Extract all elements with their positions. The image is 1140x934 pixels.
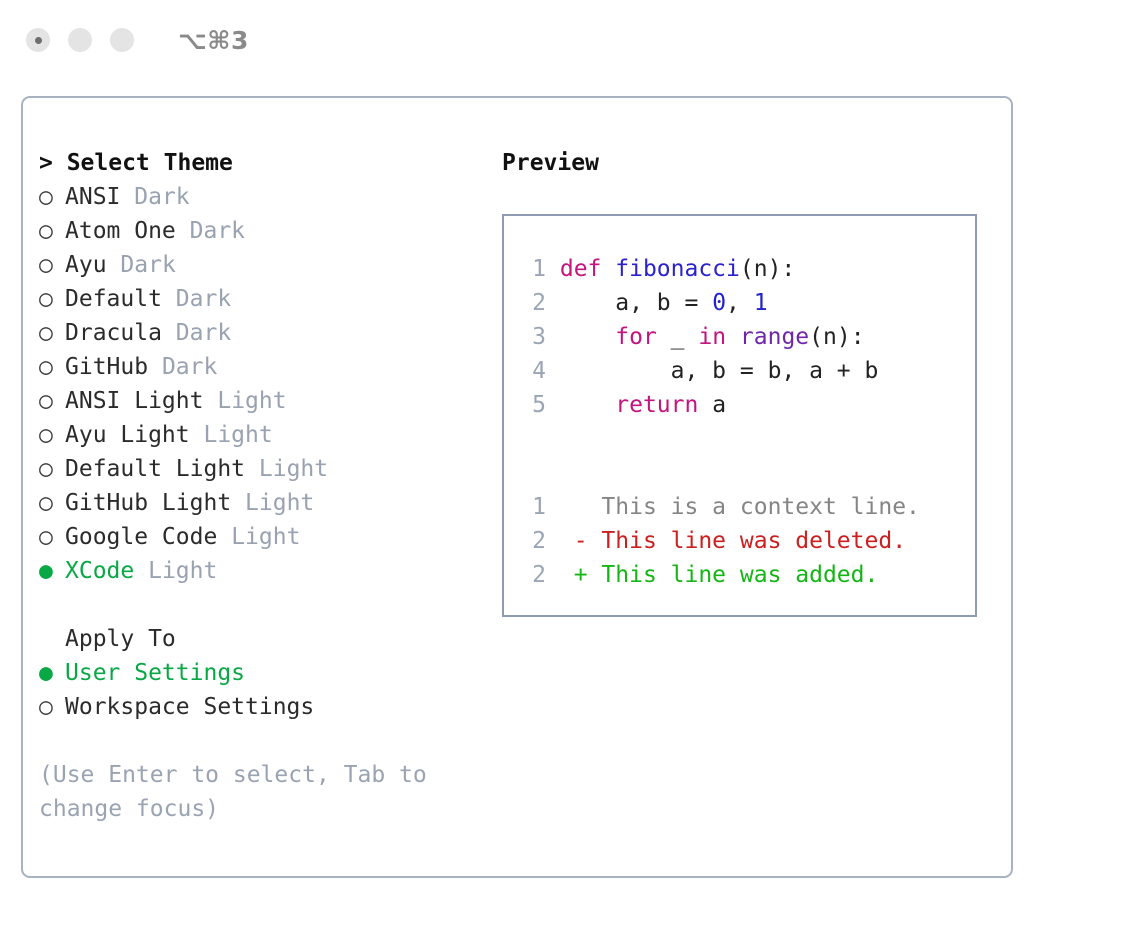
preview-heading: Preview: [502, 146, 1002, 180]
apply-to-list: ●User Settings○Workspace Settings: [39, 656, 489, 724]
theme-option-github-light[interactable]: ○GitHub Light Light: [39, 486, 489, 520]
code-token-pn: (n):: [740, 256, 795, 282]
code-blank-line-2: [518, 456, 975, 490]
theme-option-tag: Dark: [134, 184, 189, 210]
diff-sign: +: [574, 562, 588, 588]
window-dot-active-inner: [35, 37, 42, 44]
code-token-kw: def: [560, 256, 615, 282]
code-blank-line: [518, 422, 975, 456]
theme-option-label: Atom One: [65, 218, 176, 244]
theme-option-label: GitHub: [65, 354, 148, 380]
theme-option-atom-one[interactable]: ○Atom One Dark: [39, 214, 489, 248]
theme-option-tag: Dark: [176, 320, 231, 346]
code-token-kw: in: [698, 324, 726, 350]
code-token-pn: a, b = b, a + b: [560, 358, 879, 384]
diff-line-text: This line was added.: [588, 562, 879, 588]
preview-code-box: 1 def fibonacci(n):2 a, b = 0, 13 for _ …: [502, 214, 977, 617]
diff-line-text: This line was deleted.: [588, 528, 907, 554]
title-bar: ⌥⌘3: [0, 0, 1140, 80]
theme-option-tag: Dark: [120, 252, 175, 278]
code-token-pn: _: [657, 324, 699, 350]
theme-option-label: Google Code: [65, 524, 217, 550]
theme-option-tag: Light: [217, 388, 286, 414]
code-line: 2 a, b = 0, 1: [518, 286, 975, 320]
theme-option-tag: Light: [148, 558, 217, 584]
code-token-num: 0: [712, 290, 726, 316]
select-theme-heading: > Select Theme: [39, 146, 489, 180]
diff-line-ctx: 1 This is a context line.: [518, 490, 975, 524]
theme-list: ○ANSI Dark○Atom One Dark○Ayu Dark○Defaul…: [39, 180, 489, 588]
theme-option-default-light[interactable]: ○Default Light Light: [39, 452, 489, 486]
radio-unselected-icon: ○: [39, 690, 65, 724]
radio-selected-icon: ●: [39, 656, 65, 690]
code-line: 4 a, b = b, a + b: [518, 354, 975, 388]
theme-option-ansi-light[interactable]: ○ANSI Light Light: [39, 384, 489, 418]
code-token-kw: return: [615, 392, 698, 418]
theme-option-ayu[interactable]: ○Ayu Dark: [39, 248, 489, 282]
diff-line-number: 2: [518, 524, 546, 558]
theme-option-label: Default: [65, 286, 162, 312]
theme-picker-column: > Select Theme ○ANSI Dark○Atom One Dark○…: [39, 146, 489, 826]
theme-option-label: ANSI Light: [65, 388, 203, 414]
diff-line-text: This is a context line.: [588, 494, 920, 520]
radio-unselected-icon: ○: [39, 282, 65, 316]
apply-to-heading: Apply To: [39, 622, 489, 656]
apply-to-option-workspace-settings[interactable]: ○Workspace Settings: [39, 690, 489, 724]
radio-unselected-icon: ○: [39, 418, 65, 452]
window-controls: [26, 28, 134, 52]
theme-option-tag: Light: [231, 524, 300, 550]
code-sample: 1 def fibonacci(n):2 a, b = 0, 13 for _ …: [518, 252, 975, 422]
code-token-num: 1: [754, 290, 768, 316]
diff-sign: -: [574, 528, 588, 554]
code-line: 1 def fibonacci(n):: [518, 252, 975, 286]
spacer-2: [39, 724, 489, 758]
radio-selected-icon: ●: [39, 554, 65, 588]
preview-column: Preview 1 def fibonacci(n):2 a, b = 0, 1…: [502, 146, 1002, 617]
diff-line-number: 2: [518, 558, 546, 592]
code-token-pn: [560, 324, 615, 350]
diff-line-number: 1: [518, 490, 546, 524]
radio-unselected-icon: ○: [39, 520, 65, 554]
window-dot-active[interactable]: [26, 28, 50, 52]
code-line-number: 5: [518, 388, 546, 422]
theme-option-label: Default Light: [65, 456, 245, 482]
radio-unselected-icon: ○: [39, 316, 65, 350]
code-token-pn: [726, 324, 740, 350]
window-dot-second[interactable]: [68, 28, 92, 52]
code-line: 3 for _ in range(n):: [518, 320, 975, 354]
theme-option-ayu-light[interactable]: ○Ayu Light Light: [39, 418, 489, 452]
theme-option-ansi[interactable]: ○ANSI Dark: [39, 180, 489, 214]
radio-unselected-icon: ○: [39, 350, 65, 384]
theme-option-xcode[interactable]: ●XCode Light: [39, 554, 489, 588]
keyboard-hint-text: (Use Enter to select, Tab to change focu…: [39, 758, 459, 826]
theme-option-google-code[interactable]: ○Google Code Light: [39, 520, 489, 554]
theme-option-label: Dracula: [65, 320, 162, 346]
code-token-kw: for: [615, 324, 657, 350]
radio-unselected-icon: ○: [39, 248, 65, 282]
theme-option-label: ANSI: [65, 184, 120, 210]
keyboard-shortcut-label: ⌥⌘3: [178, 26, 249, 55]
theme-option-tag: Dark: [190, 218, 245, 244]
diff-sample: 1 This is a context line.2 - This line w…: [518, 490, 975, 592]
app-root: ⌥⌘3 > Select Theme ○ANSI Dark○Atom One D…: [0, 0, 1140, 934]
theme-option-dracula[interactable]: ○Dracula Dark: [39, 316, 489, 350]
radio-unselected-icon: ○: [39, 486, 65, 520]
apply-to-option-user-settings[interactable]: ●User Settings: [39, 656, 489, 690]
diff-line-del: 2 - This line was deleted.: [518, 524, 975, 558]
theme-option-label: Ayu: [65, 252, 107, 278]
code-token-fn: fibonacci: [615, 256, 740, 282]
code-line-number: 4: [518, 354, 546, 388]
code-token-pn: [560, 392, 615, 418]
code-line-number: 1: [518, 252, 546, 286]
code-token-pn: a, b =: [560, 290, 712, 316]
window-dot-third[interactable]: [110, 28, 134, 52]
theme-option-tag: Dark: [176, 286, 231, 312]
diff-sign: [574, 494, 588, 520]
code-token-pn: a: [698, 392, 726, 418]
main-panel: > Select Theme ○ANSI Dark○Atom One Dark○…: [21, 96, 1013, 878]
theme-option-label: GitHub Light: [65, 490, 231, 516]
theme-option-tag: Light: [245, 490, 314, 516]
radio-unselected-icon: ○: [39, 384, 65, 418]
code-line: 5 return a: [518, 388, 975, 422]
theme-option-label: XCode: [65, 558, 134, 584]
theme-option-github[interactable]: ○GitHub Dark: [39, 350, 489, 384]
code-token-pn: (n):: [809, 324, 864, 350]
diff-line-add: 2 + This line was added.: [518, 558, 975, 592]
code-line-number: 3: [518, 320, 546, 354]
code-line-number: 2: [518, 286, 546, 320]
theme-option-tag: Light: [203, 422, 272, 448]
theme-option-tag: Light: [259, 456, 328, 482]
apply-to-option-label: User Settings: [65, 660, 245, 686]
theme-option-default[interactable]: ○Default Dark: [39, 282, 489, 316]
radio-unselected-icon: ○: [39, 180, 65, 214]
code-token-call: range: [740, 324, 809, 350]
radio-unselected-icon: ○: [39, 452, 65, 486]
spacer: [39, 588, 489, 622]
code-token-pn: ,: [726, 290, 754, 316]
radio-unselected-icon: ○: [39, 214, 65, 248]
apply-to-option-label: Workspace Settings: [65, 694, 314, 720]
theme-option-label: Ayu Light: [65, 422, 190, 448]
theme-option-tag: Dark: [162, 354, 217, 380]
